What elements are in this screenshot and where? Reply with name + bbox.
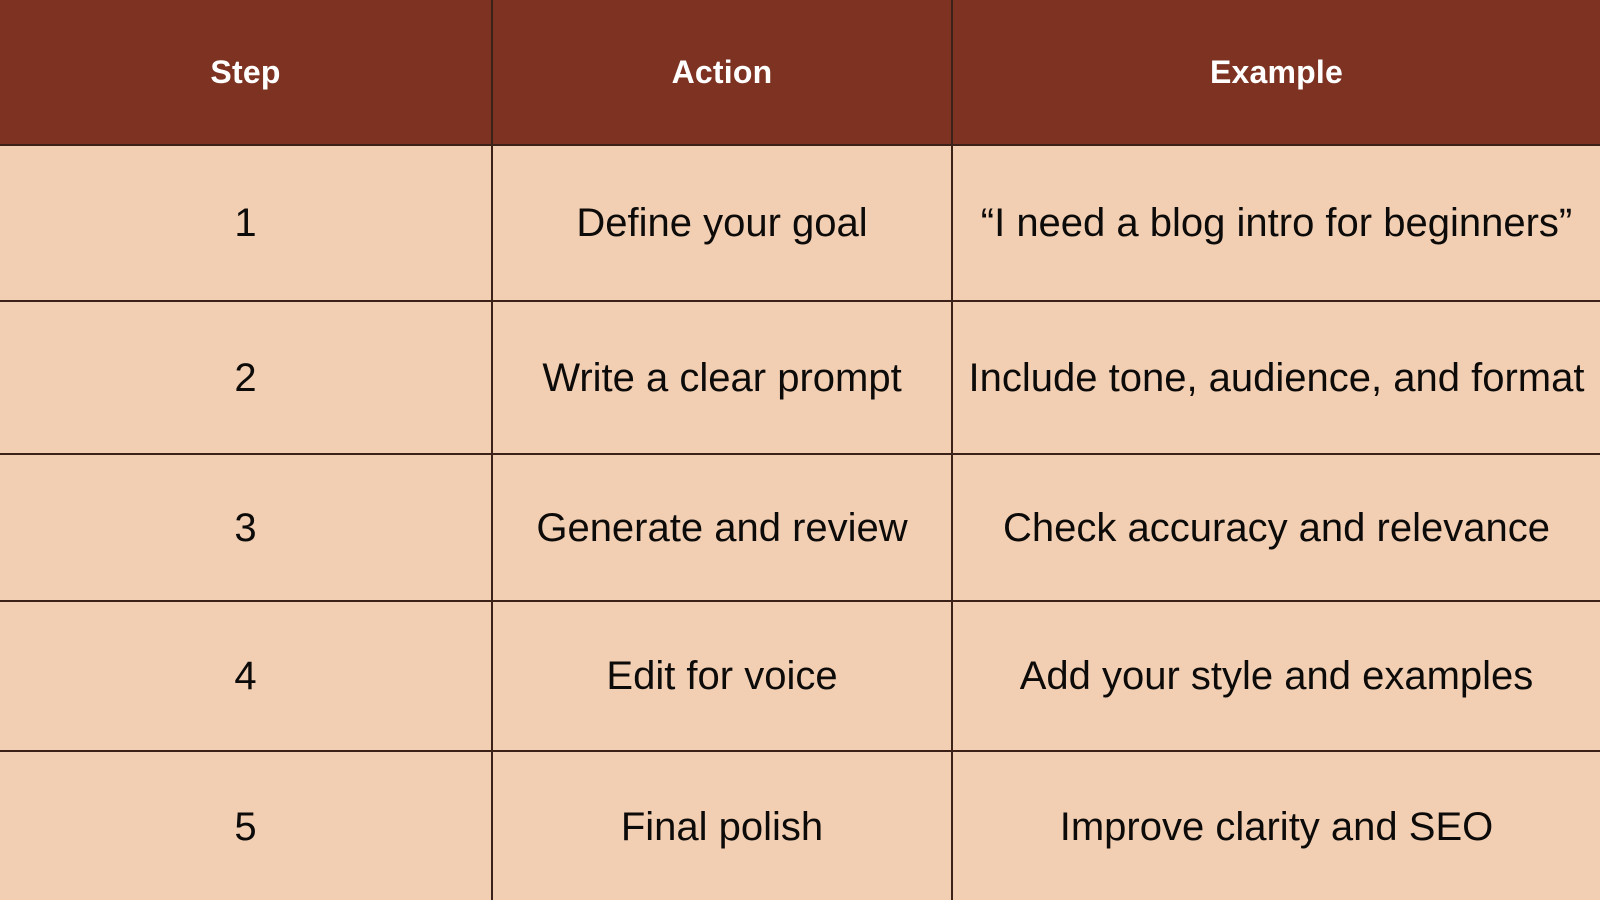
table-row: 5 Final polish Improve clarity and SEO	[0, 751, 1600, 900]
steps-table: Step Action Example 1 Define your goal “…	[0, 0, 1600, 900]
column-header-example: Example	[952, 0, 1600, 145]
table-row: 1 Define your goal “I need a blog intro …	[0, 145, 1600, 301]
header-row: Step Action Example	[0, 0, 1600, 145]
cell-example: “I need a blog intro for beginners”	[952, 145, 1600, 301]
cell-example: Improve clarity and SEO	[952, 751, 1600, 900]
cell-example: Include tone, audience, and format	[952, 301, 1600, 454]
cell-step: 5	[0, 751, 492, 900]
table-header: Step Action Example	[0, 0, 1600, 145]
table-row: 3 Generate and review Check accuracy and…	[0, 454, 1600, 601]
cell-example: Check accuracy and relevance	[952, 454, 1600, 601]
column-header-action: Action	[492, 0, 952, 145]
cell-step: 1	[0, 145, 492, 301]
cell-action: Write a clear prompt	[492, 301, 952, 454]
table-row: 2 Write a clear prompt Include tone, aud…	[0, 301, 1600, 454]
table-body: 1 Define your goal “I need a blog intro …	[0, 145, 1600, 900]
cell-action: Define your goal	[492, 145, 952, 301]
column-header-step: Step	[0, 0, 492, 145]
cell-step: 2	[0, 301, 492, 454]
table-canvas: Step Action Example 1 Define your goal “…	[0, 0, 1600, 900]
cell-step: 4	[0, 601, 492, 751]
cell-action: Edit for voice	[492, 601, 952, 751]
cell-example: Add your style and examples	[952, 601, 1600, 751]
table-row: 4 Edit for voice Add your style and exam…	[0, 601, 1600, 751]
cell-action: Final polish	[492, 751, 952, 900]
cell-action: Generate and review	[492, 454, 952, 601]
cell-step: 3	[0, 454, 492, 601]
